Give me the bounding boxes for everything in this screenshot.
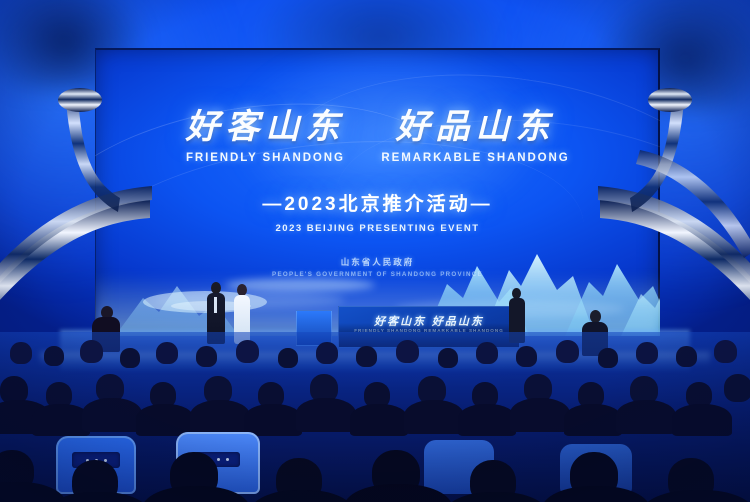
chair-plate-dot xyxy=(226,458,229,461)
audience-head xyxy=(120,348,140,368)
audience-head xyxy=(724,374,750,402)
audience-shoulders xyxy=(350,404,408,436)
audience-area xyxy=(0,332,750,502)
audience-head xyxy=(196,346,217,367)
audience-shoulders xyxy=(458,404,516,436)
event-stage-photo: 好客山东 FRIENDLY SHANDONG 好品山东 REMARKABLE S… xyxy=(0,0,750,502)
audience-head xyxy=(516,346,537,367)
audience-head xyxy=(80,340,103,363)
slogan-left-chinese: 好客山东 xyxy=(185,110,345,146)
chair-plate-dot xyxy=(217,458,220,461)
audience-head xyxy=(316,342,338,364)
slogan-row: 好客山东 FRIENDLY SHANDONG 好品山东 REMARKABLE S… xyxy=(95,110,660,164)
host-male-shirt xyxy=(214,297,217,313)
slogan-right-chinese: 好品山东 xyxy=(396,110,556,146)
slogan-left-english: FRIENDLY SHANDONG xyxy=(186,152,345,164)
audience-head xyxy=(676,346,697,367)
audience-head xyxy=(598,348,618,368)
audience-shoulders xyxy=(672,404,732,436)
audience-shoulders xyxy=(190,400,250,434)
audience-head xyxy=(10,342,32,364)
audience-head xyxy=(44,346,64,366)
audience-head xyxy=(636,342,658,364)
audience-shoulders xyxy=(404,400,464,434)
slogan-right-english: REMARKABLE SHANDONG xyxy=(381,152,569,164)
audience-shoulders xyxy=(510,398,570,432)
audience-head xyxy=(438,348,458,368)
audience-head xyxy=(356,346,377,367)
audience-head xyxy=(476,342,498,364)
slogan-left: 好客山东 FRIENDLY SHANDONG xyxy=(185,110,345,164)
audience-shoulders xyxy=(564,404,622,436)
audience-head xyxy=(714,340,737,363)
audience-head xyxy=(396,340,419,363)
audience-shoulders xyxy=(82,398,142,432)
audience-head xyxy=(278,348,298,368)
slogan-right: 好品山东 REMARKABLE SHANDONG xyxy=(381,110,569,164)
audience-shoulders xyxy=(244,404,302,436)
screen-text-block: 好客山东 FRIENDLY SHANDONG 好品山东 REMARKABLE S… xyxy=(95,110,660,278)
main-led-screen: 好客山东 FRIENDLY SHANDONG 好品山东 REMARKABLE S… xyxy=(95,48,660,336)
audience-shoulders xyxy=(296,398,356,432)
organizer-chinese: 山东省人民政府 xyxy=(95,256,660,268)
event-title-chinese: —2023北京推介活动— xyxy=(95,189,660,216)
event-title-english: 2023 BEIJING PRESENTING EVENT xyxy=(95,223,660,234)
organizer-english: PEOPLE'S GOVERNMENT OF SHANDONG PROVINCE xyxy=(95,271,660,278)
audience-head xyxy=(236,340,259,363)
audience-head xyxy=(556,340,579,363)
audience-head xyxy=(156,342,178,364)
audience-shoulders xyxy=(616,400,676,434)
